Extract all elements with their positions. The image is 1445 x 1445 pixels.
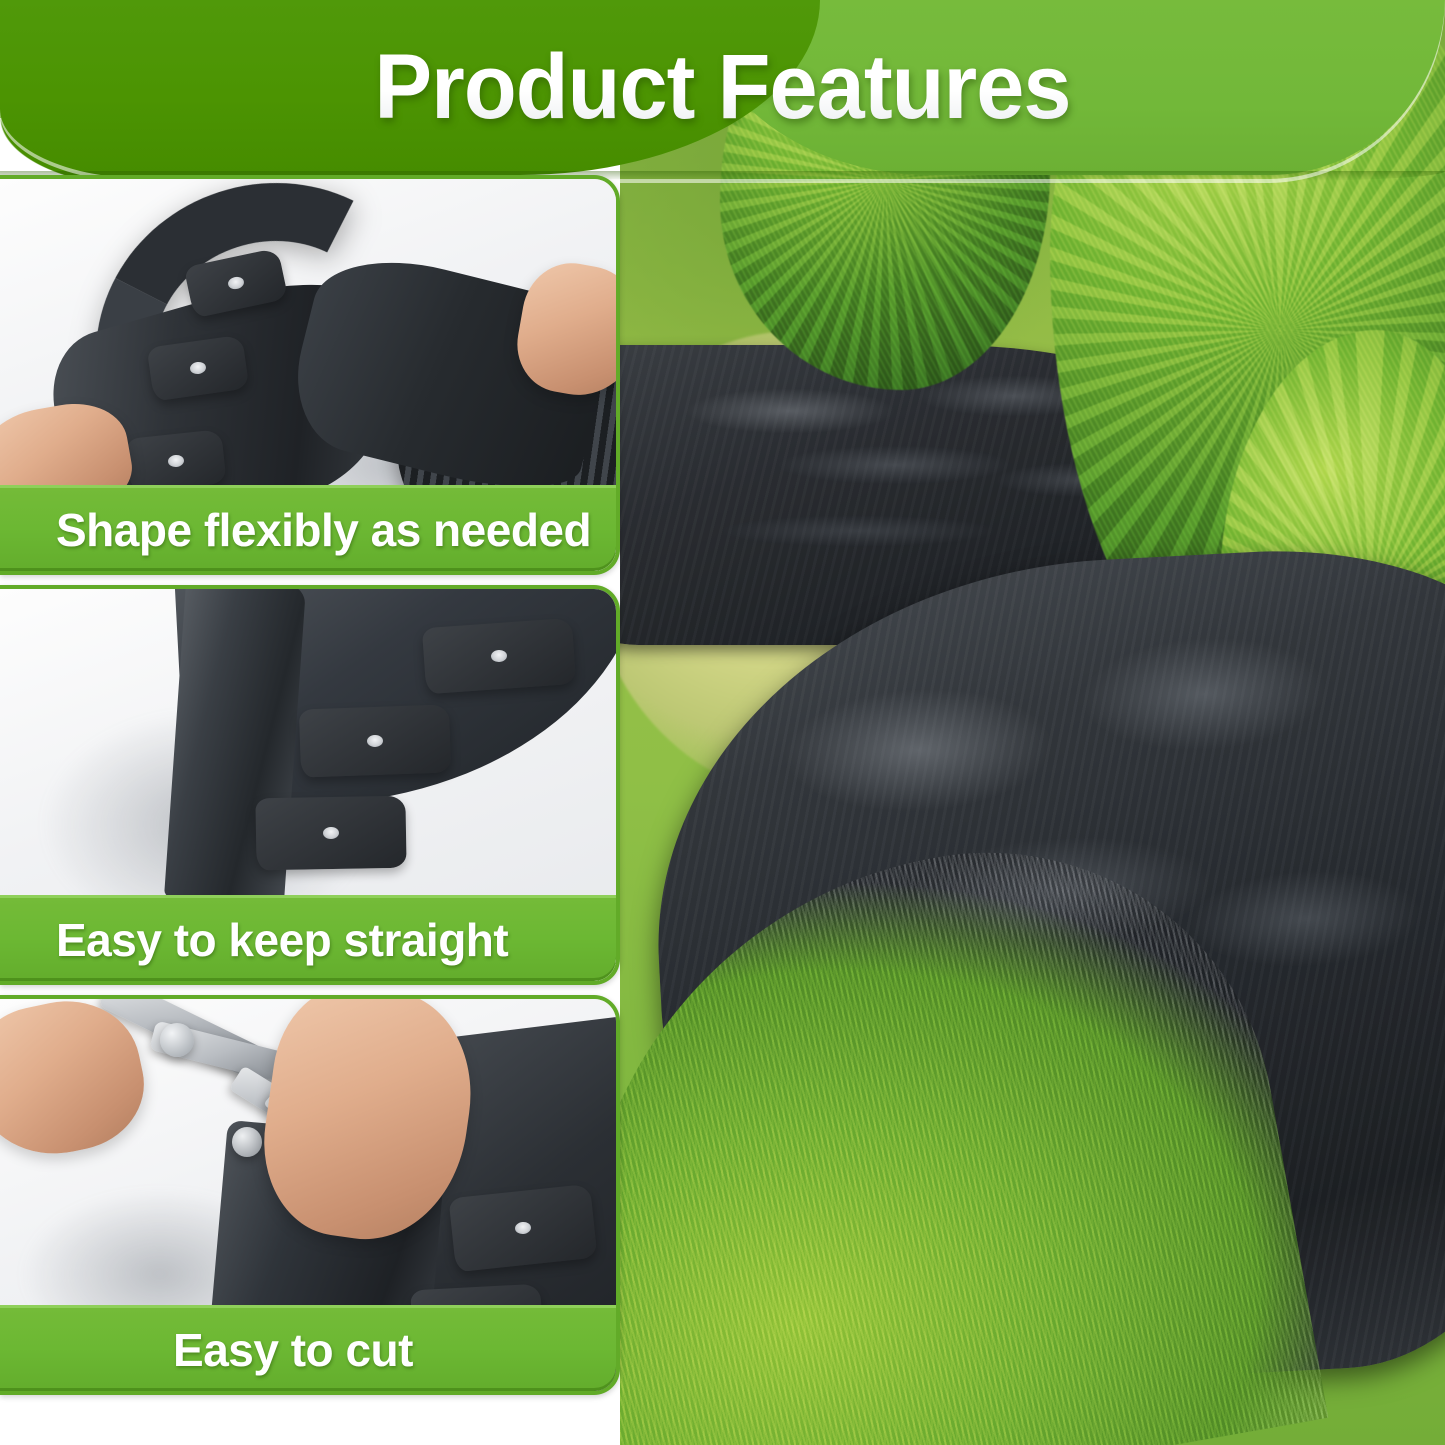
panel-caption-text: Easy to keep straight <box>56 913 508 967</box>
panel-caption-text: Shape flexibly as needed <box>56 503 591 557</box>
header-banner: Product Features <box>0 0 1445 175</box>
panel-caption-bar: Easy to cut <box>0 1305 616 1391</box>
anchor-stake <box>255 796 406 871</box>
infographic-canvas: Curved black landscape fabric edging bed… <box>0 0 1445 1445</box>
feature-panel-shape-flexibly[interactable]: Two hands bending a black plastic lawn e… <box>0 175 620 575</box>
panel-caption-bar: Shape flexibly as needed <box>0 485 616 571</box>
anchor-stake <box>422 618 576 694</box>
panel-caption-bar: Easy to keep straight <box>0 895 616 981</box>
feature-panel-list: Two hands bending a black plastic lawn e… <box>0 175 628 1405</box>
shear-pivot-bolt <box>232 1127 262 1157</box>
anchor-stake <box>299 704 451 777</box>
page-title: Product Features <box>43 0 1401 175</box>
anchor-stake <box>125 429 226 493</box>
panel-caption-text: Easy to cut <box>173 1323 413 1377</box>
hero-garden-photo: Curved black landscape fabric edging bed… <box>620 0 1445 1445</box>
shear-spring <box>160 1023 194 1057</box>
feature-panel-keep-straight[interactable]: A straight length of black plastic lawn … <box>0 585 620 985</box>
anchor-stake <box>449 1184 598 1272</box>
feature-panel-easy-to-cut[interactable]: Hands using metal shears to cut through … <box>0 995 620 1395</box>
hand-left <box>0 999 156 1169</box>
